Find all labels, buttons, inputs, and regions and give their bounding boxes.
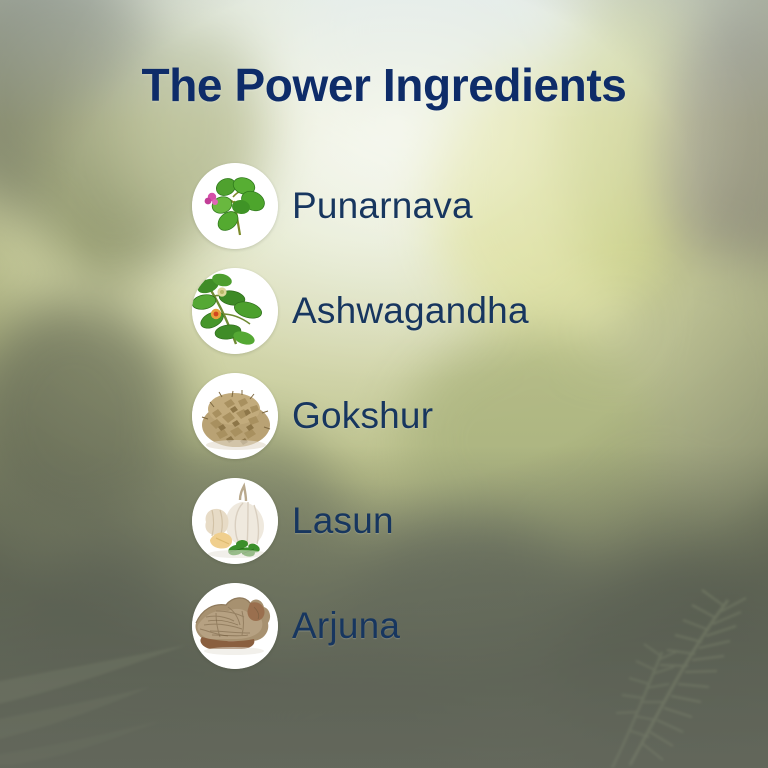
list-item[interactable]: Ashwagandha: [192, 268, 529, 354]
ingredient-label: Ashwagandha: [292, 290, 529, 332]
list-item[interactable]: Punarnava: [192, 163, 529, 249]
ashwagandha-plant-icon: [192, 268, 278, 354]
list-item[interactable]: Arjuna: [192, 583, 529, 669]
page-title: The Power Ingredients: [0, 58, 768, 112]
lasun-garlic-icon: [192, 478, 278, 564]
poster: The Power Ingredients: [0, 0, 768, 768]
ingredient-label: Punarnava: [292, 185, 473, 227]
ingredient-list: Punarnava: [192, 163, 529, 688]
arjuna-bark-icon: [192, 583, 278, 669]
ingredient-label: Arjuna: [292, 605, 400, 647]
ingredient-label: Gokshur: [292, 395, 433, 437]
list-item[interactable]: Lasun: [192, 478, 529, 564]
ingredient-label: Lasun: [292, 500, 394, 542]
list-item[interactable]: Gokshur: [192, 373, 529, 459]
gokshur-seeds-icon: [192, 373, 278, 459]
punarnava-plant-icon: [192, 163, 278, 249]
